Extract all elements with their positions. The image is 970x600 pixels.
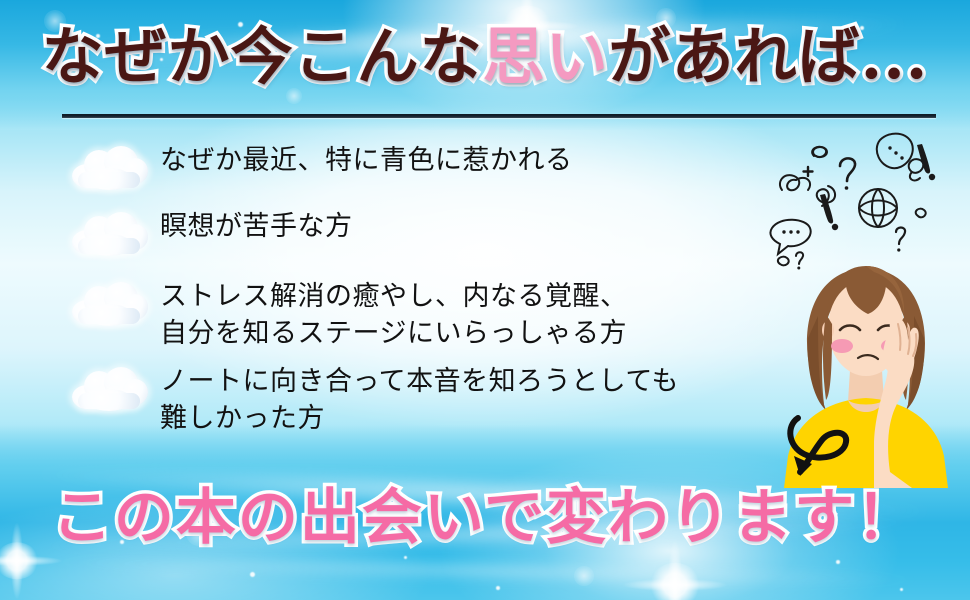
- list-item-line: ノートに向き合って本音を知ろうとしても: [160, 363, 679, 400]
- list-item-line: 難しかった方: [160, 400, 679, 437]
- blush: [831, 339, 853, 353]
- cloud-icon: [70, 282, 150, 328]
- sparkle-icon: [836, 560, 840, 564]
- cloud-icon: [70, 212, 150, 258]
- bokeh-icon: [574, 566, 594, 586]
- list-item-text: なぜか最近、特に青色に惹かれる: [160, 140, 573, 179]
- sparkle-icon: [496, 586, 500, 590]
- headline: なぜか今こんな思いがあれば...: [0, 26, 970, 88]
- list-item-line: なぜか最近、特に青色に惹かれる: [160, 142, 573, 179]
- tagline-text: この本の出会いで変わります！: [52, 483, 918, 553]
- sparkle-icon: [900, 588, 903, 591]
- list-item-line: 自分を知るステージにいらっしゃる方: [160, 315, 628, 352]
- headline-highlight: 思い: [483, 20, 609, 93]
- list-item: ストレス解消の癒やし、内なる覚醒、 自分を知るステージにいらっしゃる方: [70, 276, 770, 353]
- list-item: なぜか最近、特に青色に惹かれる: [70, 140, 770, 194]
- tagline: この本の出会いで変わります！: [0, 488, 970, 548]
- sparkle-icon: [250, 572, 255, 577]
- list-item-text: ストレス解消の癒やし、内なる覚醒、 自分を知るステージにいらっしゃる方: [160, 276, 628, 353]
- bullet-list: なぜか最近、特に青色に惹かれる 瞑想が苦手な方 ストレス解消の癒やし、内なる覚醒…: [70, 140, 770, 437]
- list-item-text: 瞑想が苦手な方: [160, 206, 353, 245]
- list-item-line: 瞑想が苦手な方: [160, 208, 353, 245]
- headline-part-3: があれば...: [609, 20, 929, 93]
- cloud-icon: [70, 367, 150, 413]
- list-item-text: ノートに向き合って本音を知ろうとしても 難しかった方: [160, 361, 679, 438]
- horizontal-rule: [62, 114, 936, 118]
- list-item-line: ストレス解消の癒やし、内なる覚醒、: [160, 278, 628, 315]
- promo-banner: なぜか今こんな思いがあれば... なぜか最近、特に青色に惹かれる 瞑想が苦手な方…: [0, 0, 970, 600]
- list-item: 瞑想が苦手な方: [70, 206, 770, 260]
- headline-part-1: なぜか今こんな: [42, 20, 483, 93]
- sparkle-icon: [404, 556, 407, 559]
- list-item: ノートに向き合って本音を知ろうとしても 難しかった方: [70, 361, 770, 438]
- curly-down-arrow-icon: [782, 408, 892, 488]
- cloud-icon: [70, 146, 150, 192]
